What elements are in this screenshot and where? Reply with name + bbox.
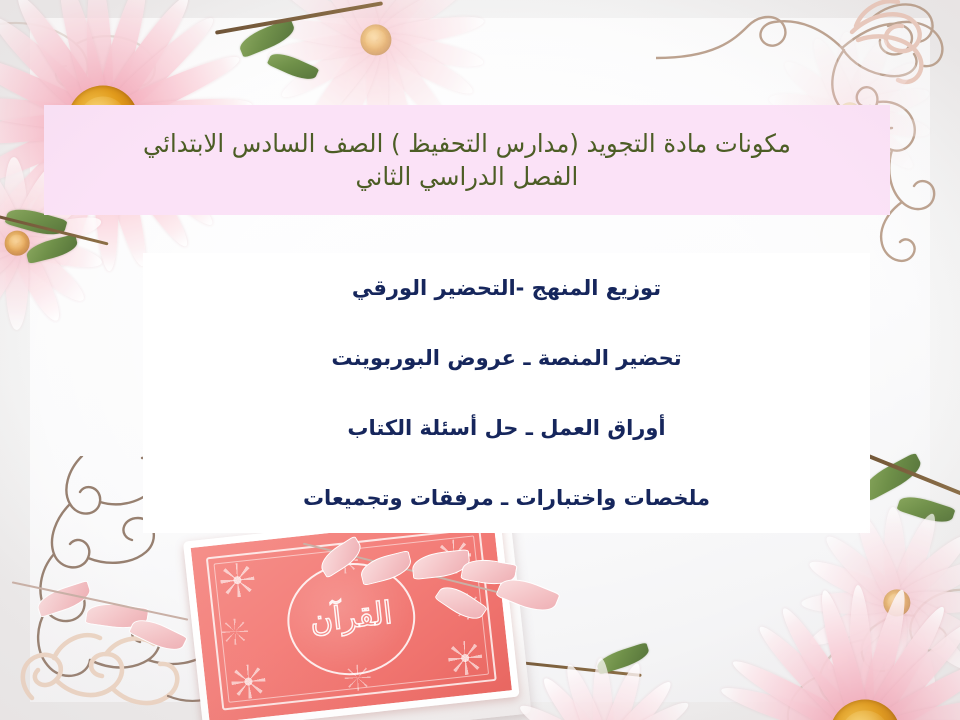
title-banner: مكونات مادة التجويد (مدارس التحفيظ ) الص… (44, 105, 890, 215)
content-item-2: تحضير المنصة ـ عروض البوربوينت (143, 323, 870, 393)
page-title-line-2: الفصل الدراسي الثاني (356, 162, 579, 192)
content-item-4: ملخصات واختبارات ـ مرفقات وتجميعات (143, 463, 870, 533)
content-item-1: توزيع المنهج -التحضير الورقي (143, 253, 870, 323)
page-title-line-1: مكونات مادة التجويد (مدارس التحفيظ ) الص… (143, 129, 791, 159)
content-card: توزيع المنهج -التحضير الورقي تحضير المنص… (143, 253, 870, 533)
presentation-slide: القرآن مكونات مادة التجويد (مدارس التحفي… (0, 0, 960, 720)
content-item-3: أوراق العمل ـ حل أسئلة الكتاب (143, 393, 870, 463)
